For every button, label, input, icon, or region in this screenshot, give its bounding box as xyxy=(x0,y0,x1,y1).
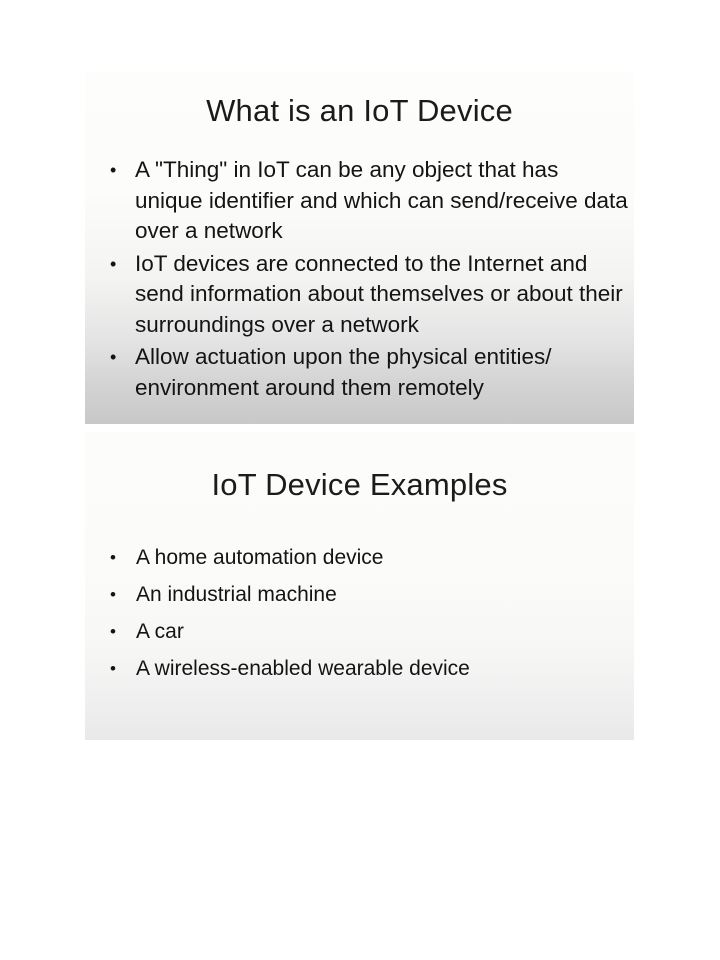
list-item-text: An industrial machine xyxy=(136,576,634,613)
bullet-dot-icon: • xyxy=(110,342,116,373)
slide-one-bullet-list: • A "Thing" in IoT can be any object tha… xyxy=(85,155,634,403)
list-item-text: IoT devices are connected to the Interne… xyxy=(135,249,628,341)
bullet-dot-icon: • xyxy=(110,539,116,576)
list-item-text: A car xyxy=(136,613,634,650)
list-item-text: A wireless-enabled wearable device xyxy=(136,650,634,687)
list-item: • A home automation device xyxy=(105,539,634,576)
list-item-text: A home automation device xyxy=(136,539,634,576)
slide-two-bullet-list: • A home automation device • An industri… xyxy=(85,539,634,687)
list-item: • A wireless-enabled wearable device xyxy=(105,650,634,687)
list-item: • An industrial machine xyxy=(105,576,634,613)
list-item: • IoT devices are connected to the Inter… xyxy=(104,249,634,341)
list-item: • Allow actuation upon the physical enti… xyxy=(104,342,634,403)
slide-one-title: What is an IoT Device xyxy=(85,72,634,128)
slide-iot-device-examples: IoT Device Examples • A home automation … xyxy=(85,432,634,740)
slide-two-title: IoT Device Examples xyxy=(85,432,634,502)
list-item-text: A "Thing" in IoT can be any object that … xyxy=(135,155,628,247)
bullet-dot-icon: • xyxy=(110,155,116,186)
list-item: • A "Thing" in IoT can be any object tha… xyxy=(104,155,634,247)
bullet-dot-icon: • xyxy=(110,576,116,613)
bullet-dot-icon: • xyxy=(110,249,116,280)
list-item-text: Allow actuation upon the physical entiti… xyxy=(135,342,628,403)
bullet-dot-icon: • xyxy=(110,613,116,650)
list-item: • A car xyxy=(105,613,634,650)
bullet-dot-icon: • xyxy=(110,650,116,687)
slide-what-is-an-iot-device: What is an IoT Device • A "Thing" in IoT… xyxy=(85,72,634,424)
document-page: What is an IoT Device • A "Thing" in IoT… xyxy=(0,0,720,960)
